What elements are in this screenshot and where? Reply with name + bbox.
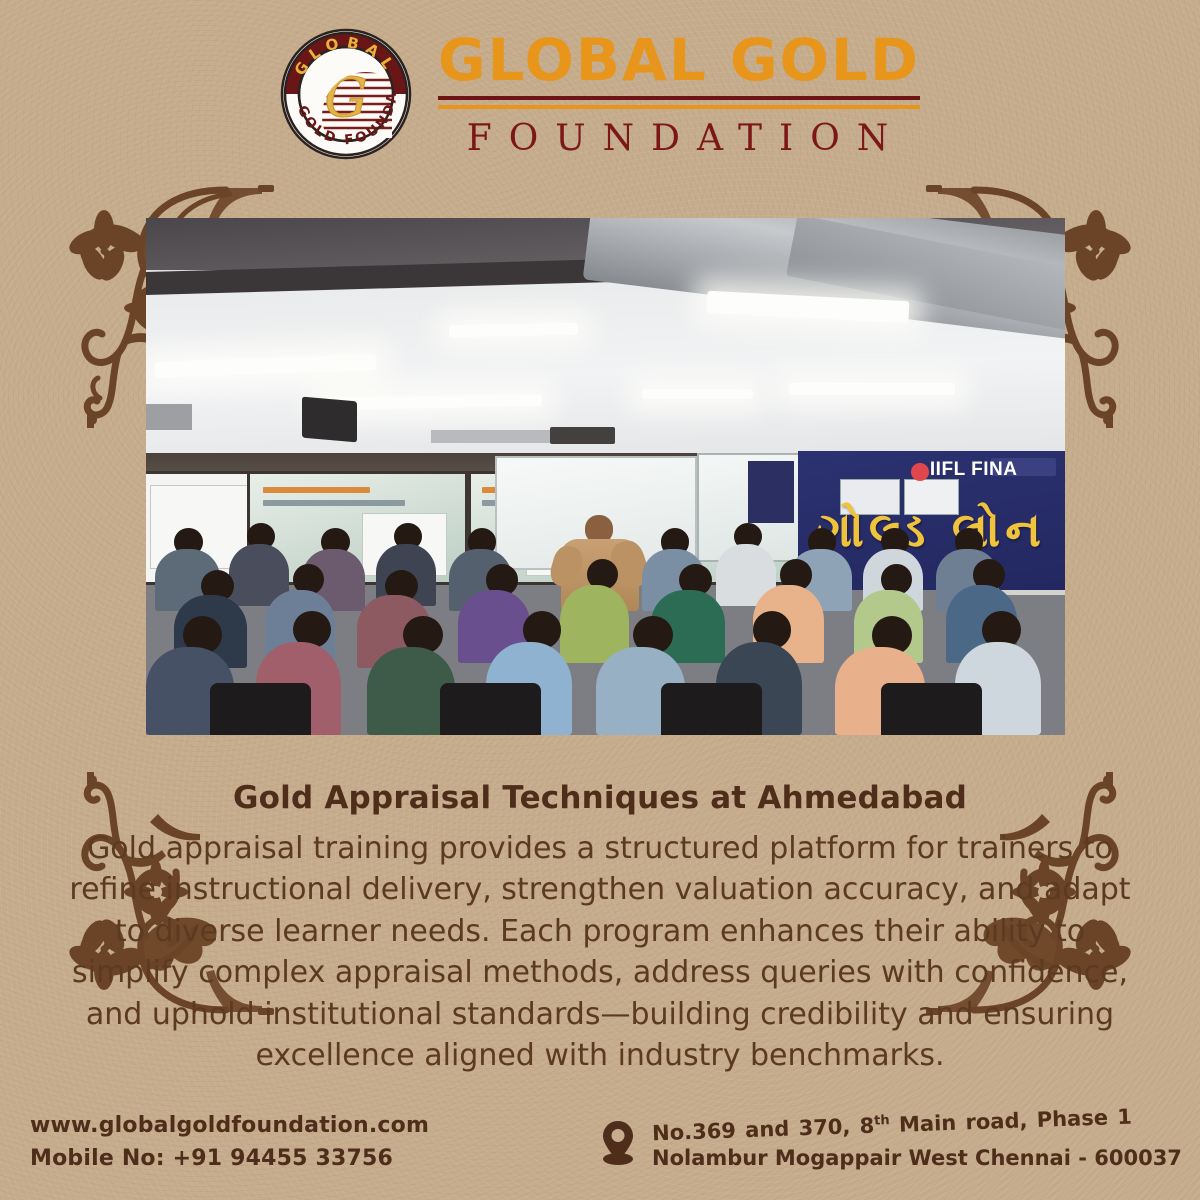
wordmark-secondary: FOUNDATION [438, 119, 920, 159]
caption-title: Gold Appraisal Techniques at Ahmedabad [60, 780, 1140, 816]
global-gold-foundation-emblem-icon: G GLOBAL GOLD FOUNDATION [280, 28, 412, 160]
brand-header: G GLOBAL GOLD FOUNDATION GLOBAL GOLD FOU… [0, 14, 1200, 174]
footer-address-line-1: No.369 and 370, 8th Main road, Phase 1 [652, 1101, 1133, 1150]
photo-banner-headline: ગોલ્ડ લોન [817, 502, 1046, 559]
photo-ceiling-light [642, 389, 752, 400]
photo-iifl-brand-text: IIFL FINA [930, 459, 1018, 481]
photo-iifl-logo-icon [911, 463, 929, 481]
photo-air-vent [431, 430, 560, 443]
divider-maroon [438, 96, 920, 100]
photo-projector [550, 427, 614, 444]
footer-address: No.369 and 370, 8th Main road, Phase 1 N… [652, 1109, 1182, 1174]
photo-air-vent [146, 404, 192, 430]
wordmark-primary: GLOBAL GOLD [438, 30, 920, 90]
footer-left: www.globalgoldfoundation.com Mobile No: … [0, 1109, 600, 1175]
footer-mobile[interactable]: Mobile No: +91 94455 33756 [30, 1142, 600, 1175]
caption-block: Gold Appraisal Techniques at Ahmedabad G… [60, 780, 1140, 1076]
footer-website[interactable]: www.globalgoldfoundation.com [30, 1109, 600, 1142]
divider-gold [438, 105, 920, 109]
event-photo: IIFL FINA ગોલ્ડ લોન [146, 218, 1065, 735]
poster-canvas: G GLOBAL GOLD FOUNDATION GLOBAL GOLD FOU… [0, 0, 1200, 1200]
photo-wall-speaker [302, 397, 357, 443]
footer-contact-bar: www.globalgoldfoundation.com Mobile No: … [0, 1092, 1200, 1192]
brand-wordmark: GLOBAL GOLD FOUNDATION [438, 30, 920, 159]
footer-right: No.369 and 370, 8th Main road, Phase 1 N… [600, 1109, 1200, 1174]
photo-banner-panel [748, 461, 794, 523]
caption-body: Gold appraisal training provides a struc… [60, 828, 1140, 1076]
photo-ceiling-light [789, 383, 954, 394]
footer-address-line-2: Nolambur Mogappair West Chennai - 600037 [652, 1146, 1182, 1170]
map-pin-icon [600, 1119, 636, 1165]
